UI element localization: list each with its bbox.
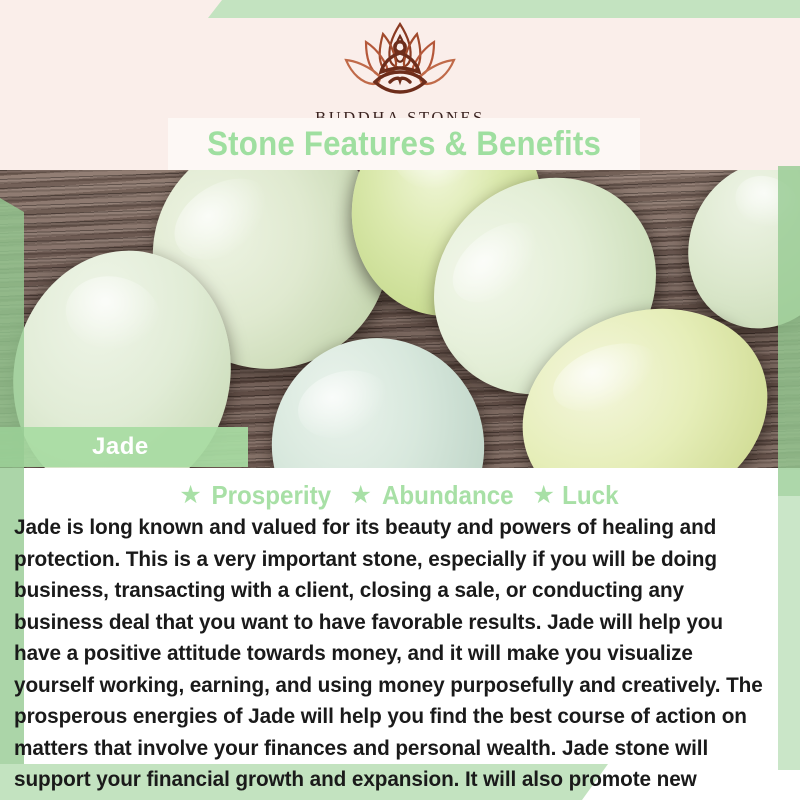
benefit-label: Abundance [382,480,514,511]
benefits-row: ★ Prosperity ★ Abundance ★ Luck [0,468,800,512]
stone-name-badge: Jade [0,427,248,467]
lotus-meditation-icon [320,18,480,106]
decor-band-right [778,166,800,496]
benefit-item: ★ Abundance [349,480,518,511]
decor-band-top [208,0,800,18]
stone-name-label: Jade [92,433,149,461]
brand-logo: BUDDHA STONES [270,18,530,128]
star-icon: ★ [532,483,554,508]
infographic-page: BUDDHA STONES Stone Features & Benefits … [0,0,800,800]
page-title: Stone Features & Benefits [207,125,601,164]
star-icon: ★ [349,483,371,508]
stone-description: Jade is long known and valued for its be… [14,512,763,800]
benefit-item: ★ Prosperity [179,480,335,511]
star-icon: ★ [179,483,201,508]
benefit-label: Luck [562,480,618,511]
decor-band-right-lower [778,470,800,770]
title-banner: Stone Features & Benefits [168,118,640,170]
benefit-item: ★ Luck [532,480,620,511]
stone-photo [0,170,800,468]
benefit-label: Prosperity [211,480,331,511]
